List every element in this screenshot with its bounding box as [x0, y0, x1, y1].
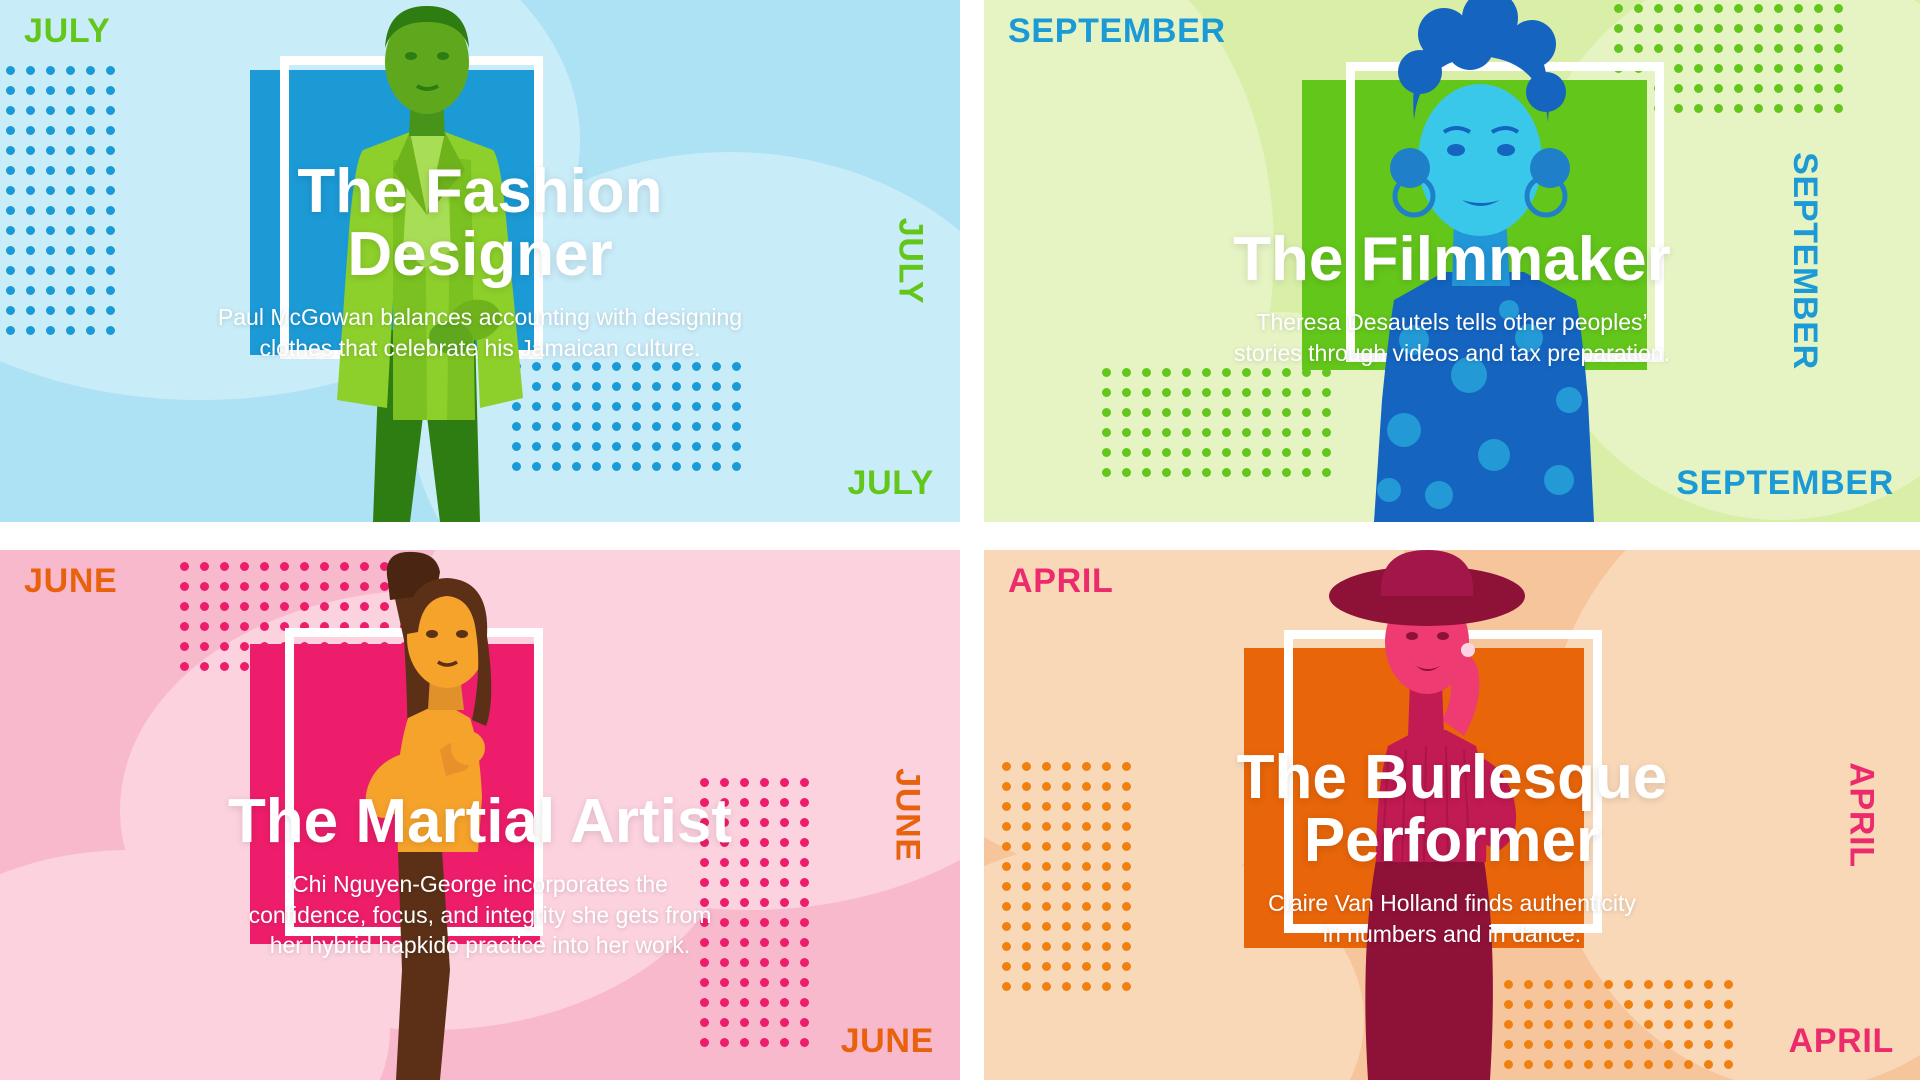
portrait-image	[1264, 550, 1594, 1080]
poster-card-burlesque-performer[interactable]: APRIL APRIL APRIL APRIL The Burlesque Pe…	[984, 550, 1920, 1080]
grid-cell: APRIL APRIL APRIL APRIL The Burlesque Pe…	[972, 530, 1920, 1080]
month-label-bottom-right: APRIL	[1789, 1024, 1894, 1058]
portrait-image	[290, 550, 560, 1080]
month-label-left: SEPTEMBER	[984, 286, 986, 504]
month-label-right: SEPTEMBER	[1788, 152, 1822, 370]
month-label-top-left: SEPTEMBER	[1008, 14, 1226, 48]
grid-cell: JULY JULY JULY JULY The Fashion Designer…	[0, 0, 972, 530]
portrait-image	[275, 0, 575, 522]
grid-cell: SEPTEMBER SEPTEMBER SEPTEMBER SEPTEMBER …	[972, 0, 1920, 530]
dot-grid-left	[1002, 762, 1142, 1002]
poster-card-martial-artist[interactable]: JUNE JUNE JUNE JUNE The Martial Artist C…	[0, 550, 960, 1080]
month-label-top-left: APRIL	[1008, 564, 1113, 598]
poster-card-fashion-designer[interactable]: JULY JULY JULY JULY The Fashion Designer…	[0, 0, 960, 522]
poster-grid: JULY JULY JULY JULY The Fashion Designer…	[0, 0, 1920, 1080]
month-label-right: JUNE	[890, 768, 924, 861]
month-label-top-left: JULY	[24, 14, 111, 48]
month-label-bottom-right: SEPTEMBER	[1676, 466, 1894, 500]
dot-grid-right	[700, 778, 820, 1058]
month-label-bottom-right: JULY	[847, 466, 934, 500]
poster-card-filmmaker[interactable]: SEPTEMBER SEPTEMBER SEPTEMBER SEPTEMBER …	[984, 0, 1920, 522]
month-label-left: APRIL	[984, 957, 986, 1062]
month-label-top-left: JUNE	[24, 564, 117, 598]
month-label-right: APRIL	[1844, 762, 1878, 867]
month-label-left: JUNE	[0, 969, 2, 1062]
month-label-right: JULY	[894, 218, 928, 305]
month-label-bottom-right: JUNE	[841, 1024, 934, 1058]
month-label-left: JULY	[0, 417, 2, 504]
grid-cell: JUNE JUNE JUNE JUNE The Martial Artist C…	[0, 530, 972, 1080]
portrait-image	[1294, 0, 1654, 522]
dot-grid-left	[6, 66, 126, 346]
